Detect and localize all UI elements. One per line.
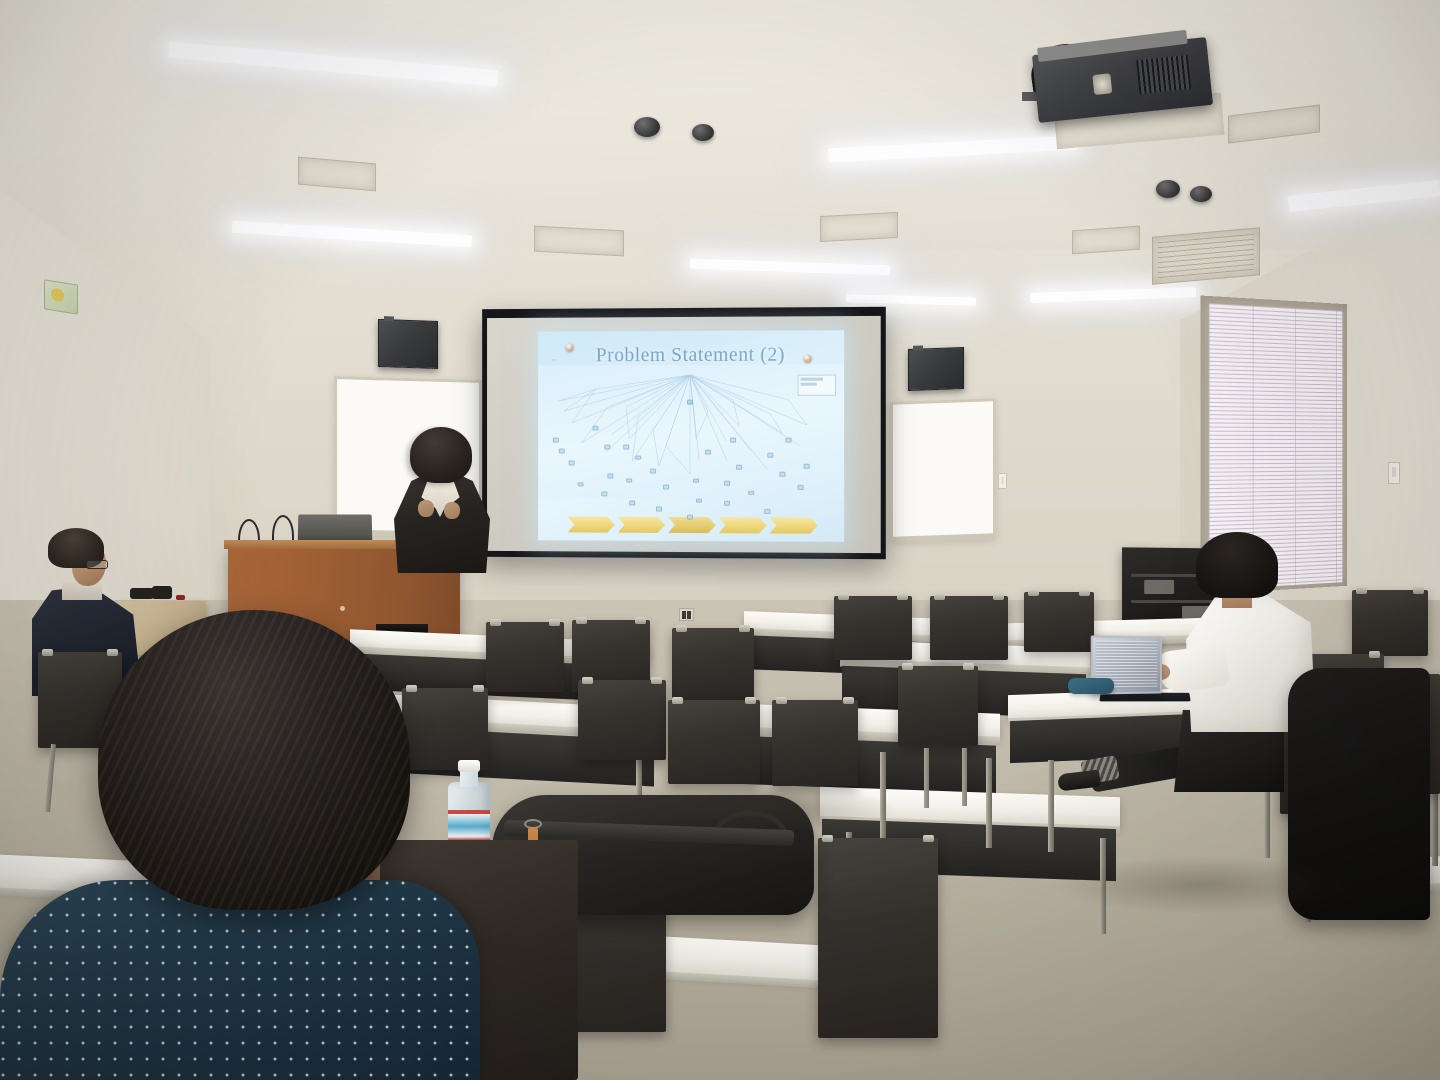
chair-back-3[interactable] [672,628,754,702]
ceiling-dome-camera [634,117,660,137]
chair-leg [924,748,929,808]
ceiling-dome-sensor [1190,186,1212,202]
slide-node-n29 [804,464,810,469]
projection-screen: Problem Statement (2) [482,307,886,559]
classroom-presentation-scene: Problem Statement (2) [0,0,1440,1080]
chair-cap-icon [676,625,687,632]
presenter-hair [410,427,472,483]
cabinet-equipment [1144,580,1174,594]
projected-slide: Problem Statement (2) [538,330,844,542]
desk-leg [1432,790,1438,866]
slide-node-n10 [626,478,632,483]
whiteboard-right [890,398,996,542]
slide-node-n22 [736,465,742,470]
chair-cap-icon [739,625,750,632]
slide-node-n5 [605,444,611,449]
chevron-step-5 [770,517,818,533]
chair-cap-icon [776,697,787,704]
chair-cap-icon [1028,589,1039,596]
bottle-cap [458,760,480,772]
chair-cap-icon [651,677,662,684]
ceiling-ac-grille [1152,227,1260,284]
chair-back-5[interactable] [930,596,1008,660]
slide-node-n19 [696,498,702,503]
chair-cap-icon [406,685,417,692]
chair-cap-icon [107,649,118,656]
chair-leg [962,748,967,806]
slide-node-n8 [623,444,629,449]
pencil-case[interactable] [1068,678,1114,694]
wall-switch-right[interactable] [998,473,1007,489]
slide-node-n13 [650,469,656,474]
ceiling-dome-camera [1156,180,1180,198]
chair-back-7[interactable] [1352,590,1428,656]
chair-mid-4[interactable] [772,700,858,786]
chair-cap-icon [1079,589,1090,596]
chair-cap-icon [582,677,593,684]
slide-node-n26 [785,438,791,443]
chair-cap-icon [934,593,945,600]
slide-node-n12 [629,501,635,506]
chair-mid-5[interactable] [898,666,978,746]
slide-node-n17 [693,478,699,483]
podium-knob [340,606,345,611]
desk-leg [1048,760,1054,852]
ceiling-vent-panel [820,212,898,242]
chevron-step-3 [668,517,716,533]
chair-back-1[interactable] [486,622,564,692]
chair-cap-icon [838,593,849,600]
slide-node-n24 [748,490,754,495]
slide-node-n14 [663,485,669,490]
floor-shadow [640,786,900,832]
chair-foreground-2[interactable] [818,838,938,1038]
desk-leg [986,758,992,848]
wall-switch-far-right[interactable] [1388,462,1400,484]
projector-lens [1092,73,1112,95]
slide-node-n16 [687,514,693,519]
chair-back-4[interactable] [834,596,912,660]
bottle-label [448,810,490,844]
chair-cap-icon [635,617,646,624]
attendee-foreground-sweater [0,880,480,1080]
slide-node-n7 [577,482,583,487]
chair-cap-icon [549,619,560,626]
chair-cap-icon [1369,651,1380,658]
presenter-hand-left [418,500,434,517]
chair-cap-icon [473,685,484,692]
screen-surface: Problem Statement (2) [487,316,881,553]
slide-node-n28 [798,485,804,490]
slide-node-n6 [608,474,614,479]
presenter-hand-right [444,502,460,519]
chair-cap-icon [1356,587,1367,594]
chevron-step-2 [618,517,665,533]
slide-node-n3 [559,448,565,453]
chair-cap-icon [576,617,587,624]
chair-cap-icon [923,835,934,842]
slide-node-n15 [656,506,662,511]
speaker-right [908,347,964,391]
chair-cap-icon [490,619,501,626]
chair-back-6[interactable] [1024,592,1094,652]
slide-node-n9 [635,455,641,460]
chair-cap-icon [1413,587,1424,594]
chevron-step-1 [568,517,615,533]
wall-outlet[interactable] [679,608,694,621]
chair-mid-1[interactable] [402,688,488,770]
chair-cap-icon [745,697,756,704]
chair-cap-icon [843,697,854,704]
slide-node-n20 [724,501,730,506]
chair-cap-icon [902,663,913,670]
chair-cap-icon [822,835,833,842]
attendee-right-hair [1196,532,1278,598]
slide-node-root [687,400,693,405]
chair-cap-icon [42,649,53,656]
exit-sign [44,279,78,314]
attendee-foreground-hair [98,610,410,910]
slide-node-n4 [568,461,574,466]
slide-node-n30 [764,509,770,514]
ceiling-dome-sensor [692,124,714,141]
ceiling-vent-panel [534,226,624,257]
chair-cap-icon [897,593,908,600]
chair-mid-2[interactable] [578,680,666,760]
slide-node-n21 [730,438,736,443]
projector-vent-fins [1136,55,1191,94]
slide-node-n1 [593,426,599,431]
slide-node-n18 [705,450,711,455]
chair-cap-icon [993,593,1004,600]
slide-node-n23 [724,481,730,486]
ceiling-vent-panel [1072,226,1140,255]
chair-cap-icon [672,697,683,704]
slide-node-n11 [602,491,608,496]
chevron-step-4 [719,517,767,533]
chair-mid-3[interactable] [668,700,760,784]
chair-cap-icon [963,663,974,670]
speaker-left [378,319,438,369]
slide-node-n25 [767,453,773,458]
attendee-left-glasses [86,560,108,569]
slide-node-n27 [779,472,785,477]
side-table-equipment [130,584,188,604]
floor-shadow [1050,856,1350,914]
slide-legend [798,375,836,396]
slide-node-n2 [553,438,559,443]
